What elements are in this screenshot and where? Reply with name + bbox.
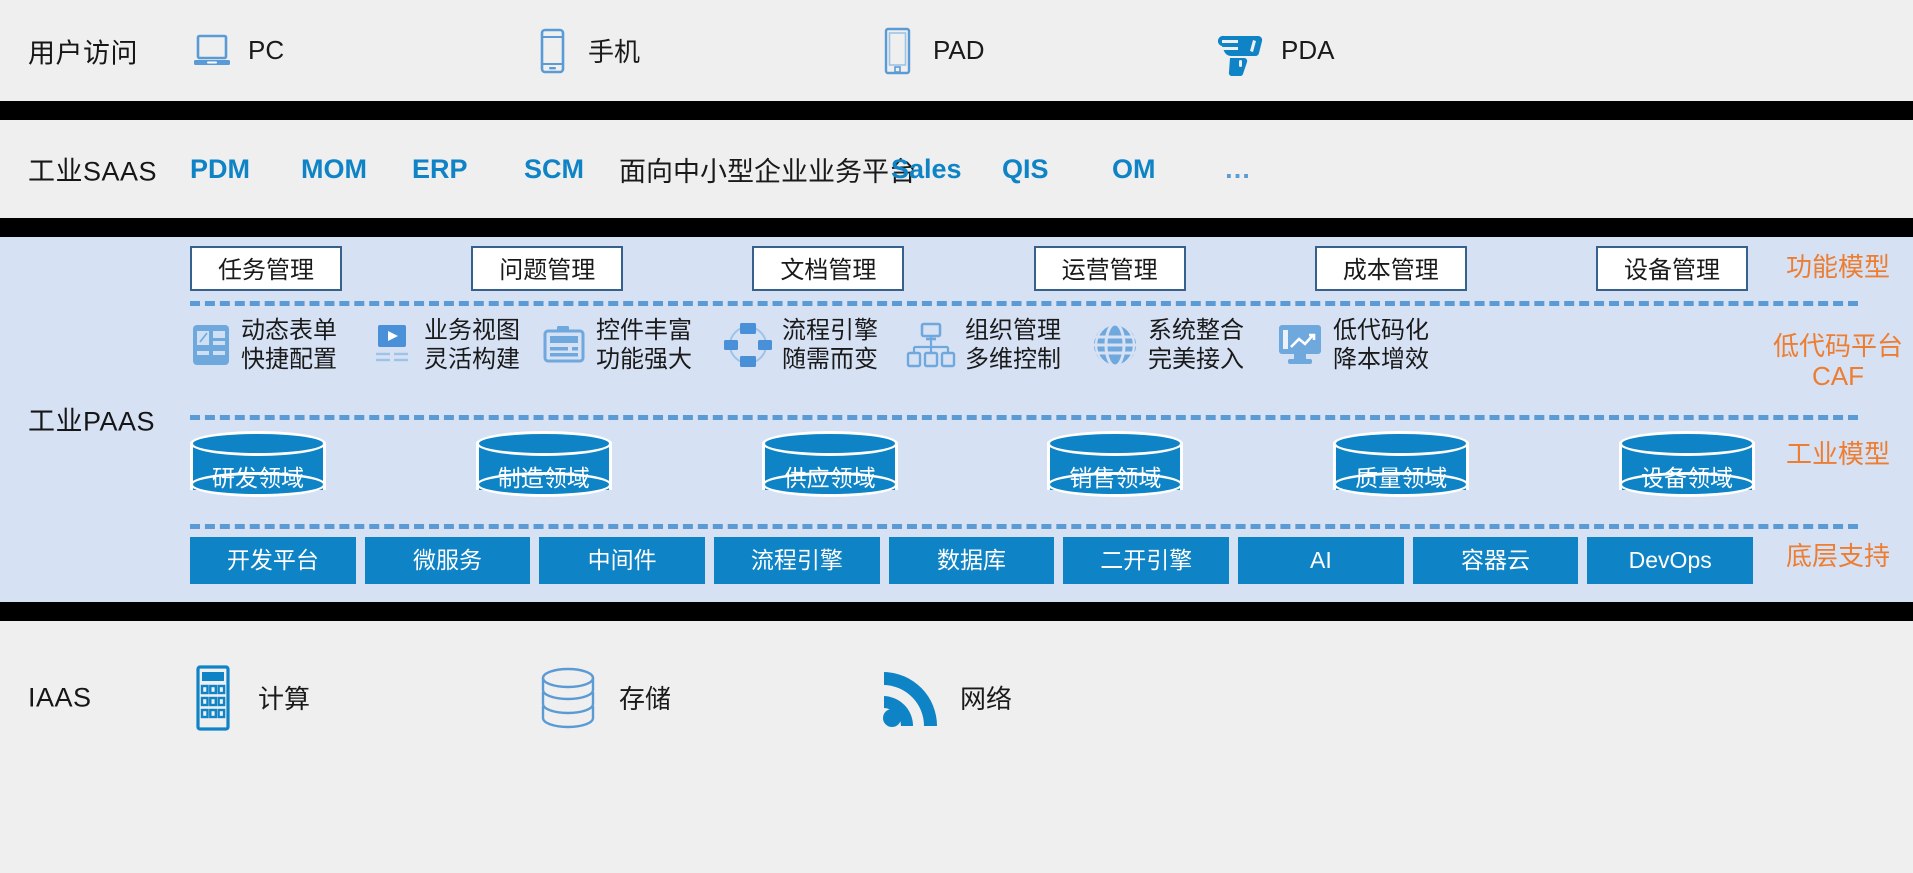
feature-org-management[interactable]: 组织管理 多维控制 (906, 316, 1091, 375)
industry-model-row: 研发领域 制造领域 供应领域 销售领域 质量领域 设备领域 (190, 431, 1755, 499)
feature-dynamic-form[interactable]: 动态表单 快捷配置 (190, 316, 373, 375)
dashed-separator-1 (190, 301, 1858, 306)
function-box-cost[interactable]: 成本管理 (1315, 246, 1467, 291)
dynamic-form-icon (190, 322, 232, 368)
feature-widget-rich[interactable]: 控件丰富 功能强大 (541, 316, 723, 375)
architecture-diagram: 用户访问 PC (0, 0, 1913, 873)
access-item-pc[interactable]: PC (190, 29, 530, 73)
saas-item-om[interactable]: OM (1112, 154, 1224, 185)
layer-industrial-saas: 工业SAAS PDM MOM ERP SCM 面向中小型企业业务平台 Sales… (0, 120, 1913, 218)
iaas-item-network[interactable]: 网络 (880, 666, 1012, 730)
layer-label-paas: 工业PAAS (28, 400, 155, 439)
saas-item-sales[interactable]: Sales (891, 154, 1002, 185)
tag-lowcode-platform: 低代码平台 CAF (1763, 332, 1913, 392)
iaas-label-storage: 存储 (619, 679, 671, 716)
cylinder-label-equipment: 设备领域 (1619, 459, 1755, 493)
cylinder-label-rd: 研发领域 (190, 459, 326, 493)
feature-text-business-view: 业务视图 灵活构建 (424, 316, 520, 375)
base-box-middleware[interactable]: 中间件 (539, 537, 705, 584)
access-label-pda: PDA (1281, 35, 1334, 66)
tablet-icon (875, 25, 919, 77)
feature-lowcode-efficiency[interactable]: 低代码化 降本增效 (1276, 316, 1456, 375)
saas-items: PDM MOM ERP SCM 面向中小型企业业务平台 Sales QIS OM… (190, 120, 1883, 218)
feature-business-view[interactable]: 业务视图 灵活构建 (373, 316, 541, 375)
cylinder-label-sales: 销售领域 (1047, 459, 1183, 493)
iaas-label-network: 网络 (960, 679, 1012, 716)
function-box-operation[interactable]: 运营管理 (1034, 246, 1186, 291)
divider-bottom (0, 602, 1913, 621)
layer-label-iaas: IAAS (28, 682, 92, 713)
base-box-devops[interactable]: DevOps (1587, 537, 1753, 584)
globe-integration-icon (1091, 321, 1139, 369)
base-box-secondary-dev-engine[interactable]: 二开引擎 (1063, 537, 1229, 584)
dashed-separator-2 (190, 415, 1858, 420)
feature-process-engine[interactable]: 流程引擎 随需而变 (723, 316, 906, 375)
calculator-compute-icon (190, 665, 240, 731)
tag-industry-model: 工业模型 (1763, 440, 1913, 470)
function-box-task[interactable]: 任务管理 (190, 246, 342, 291)
feature-text-system-integration: 系统整合 完美接入 (1148, 316, 1244, 375)
dashed-separator-3 (190, 524, 1858, 529)
saas-platform-tagline: 面向中小型企业业务平台 (619, 150, 891, 189)
tag-base-support: 底层支持 (1763, 542, 1913, 572)
saas-item-mom[interactable]: MOM (301, 154, 412, 185)
base-box-process-engine[interactable]: 流程引擎 (714, 537, 880, 584)
saas-item-erp[interactable]: ERP (412, 154, 524, 185)
cylinder-label-supply: 供应领域 (762, 459, 898, 493)
base-box-dev-platform[interactable]: 开发平台 (190, 537, 356, 584)
iaas-item-storage[interactable]: 存储 (535, 665, 880, 731)
tag-function-model: 功能模型 (1763, 253, 1913, 283)
saas-item-more[interactable]: … (1224, 154, 1254, 185)
layer-label-user-access: 用户访问 (28, 31, 138, 70)
cylinder-equipment[interactable]: 设备领域 (1619, 431, 1755, 499)
access-item-pad[interactable]: PAD (875, 25, 1215, 77)
function-model-row: 任务管理 问题管理 文档管理 运营管理 成本管理 设备管理 (190, 246, 1748, 291)
base-box-microservice[interactable]: 微服务 (365, 537, 531, 584)
saas-item-qis[interactable]: QIS (1002, 154, 1112, 185)
layer-industrial-paas: 工业PAAS 任务管理 问题管理 文档管理 运营管理 成本管理 设备管理 功能模… (0, 237, 1913, 602)
base-box-database[interactable]: 数据库 (889, 537, 1055, 584)
cylinder-supply[interactable]: 供应领域 (762, 431, 898, 499)
cylinder-rd[interactable]: 研发领域 (190, 431, 326, 499)
user-access-items: PC 手机 (190, 0, 1913, 101)
function-box-equipment[interactable]: 设备管理 (1596, 246, 1748, 291)
widget-toolbox-icon (541, 322, 587, 368)
business-view-icon (373, 322, 415, 368)
lowcode-feature-row: 动态表单 快捷配置 业务视图 灵活构建 (190, 316, 1763, 375)
access-label-pc: PC (248, 35, 284, 66)
divider-top (0, 101, 1913, 120)
database-storage-icon (535, 665, 601, 731)
cylinder-manufacturing[interactable]: 制造领域 (476, 431, 612, 499)
base-box-ai[interactable]: AI (1238, 537, 1404, 584)
access-label-phone: 手机 (588, 32, 640, 69)
paas-content: 任务管理 问题管理 文档管理 运营管理 成本管理 设备管理 功能模型 (190, 237, 1913, 602)
cylinder-label-manufacturing: 制造领域 (476, 459, 612, 493)
feature-text-process-engine: 流程引擎 随需而变 (782, 316, 878, 375)
layer-label-saas: 工业SAAS (28, 150, 157, 189)
feature-text-widget-rich: 控件丰富 功能强大 (596, 316, 692, 375)
access-item-pda[interactable]: PDA (1215, 24, 1334, 78)
lowcode-monitor-icon (1276, 322, 1324, 368)
mobile-phone-icon (530, 26, 574, 76)
saas-item-scm[interactable]: SCM (524, 154, 619, 185)
base-box-container-cloud[interactable]: 容器云 (1413, 537, 1579, 584)
laptop-icon (190, 29, 234, 73)
cylinder-quality[interactable]: 质量领域 (1333, 431, 1469, 499)
feature-text-lowcode-efficiency: 低代码化 降本增效 (1333, 316, 1429, 375)
process-engine-icon (723, 321, 773, 369)
access-label-pad: PAD (933, 35, 985, 66)
iaas-item-compute[interactable]: 计算 (190, 665, 535, 731)
function-box-issue[interactable]: 问题管理 (471, 246, 623, 291)
iaas-label-compute: 计算 (258, 679, 310, 716)
access-item-phone[interactable]: 手机 (530, 26, 875, 76)
divider-middle (0, 218, 1913, 237)
cylinder-sales[interactable]: 销售领域 (1047, 431, 1183, 499)
feature-text-org-management: 组织管理 多维控制 (965, 316, 1061, 375)
org-tree-icon (906, 321, 956, 369)
function-box-document[interactable]: 文档管理 (752, 246, 904, 291)
network-signal-icon (880, 666, 942, 730)
iaas-items: 计算 存储 (190, 621, 1913, 774)
layer-user-access: 用户访问 PC (0, 0, 1913, 101)
barcode-scanner-icon (1215, 24, 1267, 78)
feature-system-integration[interactable]: 系统整合 完美接入 (1091, 316, 1276, 375)
base-support-row: 开发平台 微服务 中间件 流程引擎 数据库 二开引擎 AI 容器云 DevOps (190, 537, 1753, 584)
layer-iaas: IAAS (0, 621, 1913, 774)
cylinder-label-quality: 质量领域 (1333, 459, 1469, 493)
saas-item-pdm[interactable]: PDM (190, 154, 301, 185)
feature-text-dynamic-form: 动态表单 快捷配置 (241, 316, 337, 375)
